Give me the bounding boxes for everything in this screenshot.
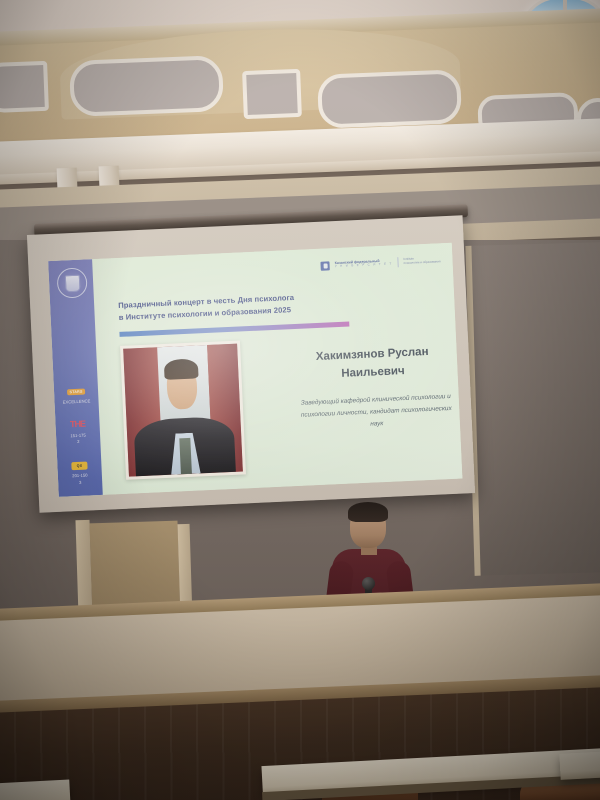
slide-canvas: STARS EXCELLENCE THE 151-175 2 QS 201-15… (48, 243, 462, 497)
speaker-portrait-photo (120, 340, 246, 479)
projected-slide: STARS EXCELLENCE THE 151-175 2 QS 201-15… (48, 243, 462, 497)
kfu-logo-text: Казанский федеральный У Н И В Е Р С И Т … (335, 258, 393, 269)
kfu-crest-icon (56, 267, 87, 298)
person-role: Заведующий кафедрой клинической психолог… (267, 389, 463, 434)
speaker-hair (348, 502, 388, 522)
slide-content: Казанский федеральный У Н И В Е Р С И Т … (92, 243, 462, 495)
audience-desk (559, 750, 600, 780)
kfu-logo-mark-icon (321, 261, 330, 270)
wall-panel (69, 55, 224, 117)
wall-panel (242, 69, 302, 119)
qs-extra: 3 (58, 479, 102, 487)
ranking-badges: STARS EXCELLENCE THE 151-175 2 QS 201-15… (54, 379, 105, 497)
the-chip: THE (70, 418, 85, 429)
crest-shield-icon (64, 274, 80, 292)
portrait-hair (164, 358, 198, 380)
kfu-logo: Казанский федеральный У Н И В Е Р С И Т … (321, 255, 441, 270)
stars-chip: STARS (66, 389, 85, 396)
projector-screen: STARS EXCELLENCE THE 151-175 2 QS 201-15… (27, 215, 475, 512)
photo-scene: STARS EXCELLENCE THE 151-175 2 QS 201-15… (0, 0, 600, 800)
logo-divider (397, 257, 398, 267)
kfu-logo-subname: У Н И В Е Р С И Т Е Т (335, 263, 393, 269)
badge-other: ••••• 210 1 (59, 493, 104, 497)
badge-the: THE 151-175 2 (55, 413, 100, 446)
slide-title: Праздничный концерт в честь Дня психолог… (118, 289, 369, 324)
qs-chip: QS (71, 462, 87, 471)
right-wall-panel (465, 242, 600, 576)
microphone-head-icon (362, 577, 375, 590)
wall-panel (0, 61, 49, 113)
accent-gradient-bar (119, 322, 349, 337)
badge-qs: QS 201-150 3 (57, 453, 102, 486)
portrait-image (123, 344, 243, 477)
logo-secondary-line2: психологии и образования (404, 260, 441, 266)
portrait-tie (180, 438, 192, 474)
kfu-logo-secondary: Institute психологии и образования (403, 256, 440, 265)
badge-stars: STARS EXCELLENCE (54, 379, 99, 406)
person-name: Хакимзянов Руслан Наильевич (264, 342, 462, 387)
the-extra: 2 (56, 438, 100, 446)
stars-sub: EXCELLENCE (54, 398, 98, 406)
audience-desk (0, 780, 71, 800)
wall-panel (317, 69, 462, 128)
